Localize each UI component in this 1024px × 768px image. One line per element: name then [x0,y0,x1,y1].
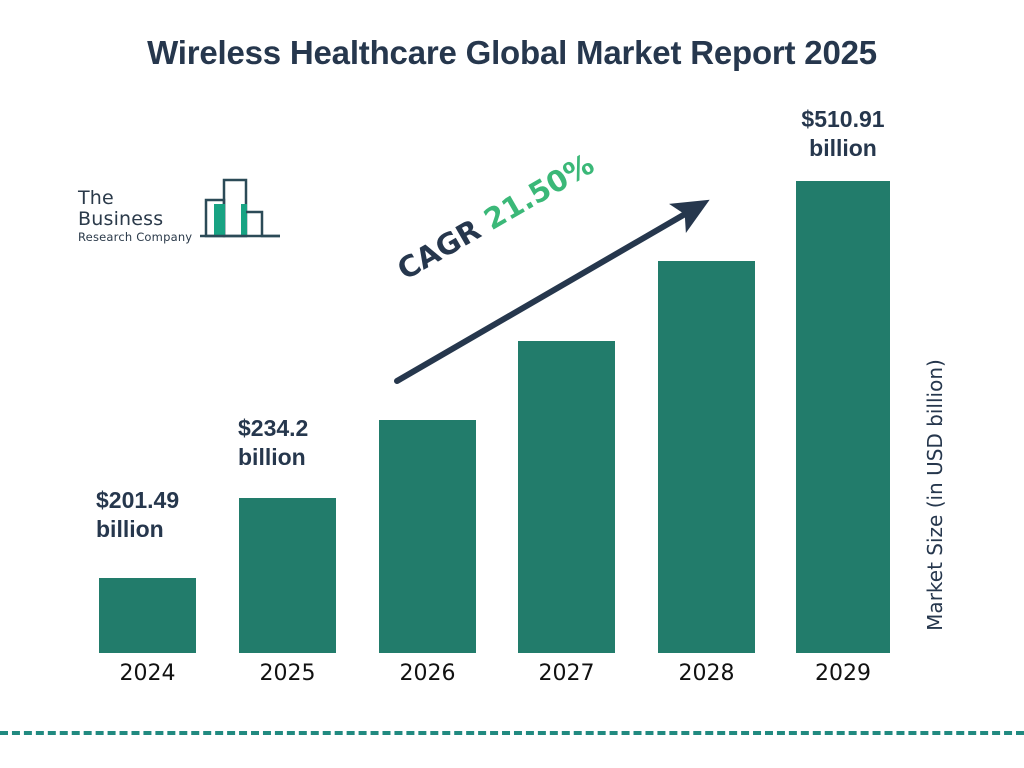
company-logo-line1: The Business [78,188,203,230]
bar-value-label-2025-line1: $234.2 [238,414,358,443]
bar-2027[interactable] [518,341,615,653]
bar-value-label-2024-line1: $201.49 [96,486,226,515]
bar-2028[interactable] [658,261,755,653]
bar-2029[interactable] [796,181,890,653]
bar-value-label-2024-line2: billion [96,515,226,544]
bar-value-label-2025: $234.2 billion [238,414,358,473]
y-axis-title: Market Size (in USD billion) [923,359,947,631]
bar-value-label-2029-line1: $510.91 [768,105,918,134]
bar-2025[interactable] [239,498,336,653]
y-axis-title-wrap: Market Size (in USD billion) [920,330,950,660]
company-logo-line2: Research Company [78,230,203,244]
bar-value-label-2029-line2: billion [768,134,918,163]
bar-value-label-2025-line2: billion [238,443,358,472]
bar-2026[interactable] [379,420,476,653]
x-axis-label-2026: 2026 [379,661,476,686]
bar-value-label-2024: $201.49 billion [96,486,226,545]
x-axis-label-2027: 2027 [518,661,615,686]
chart-canvas: Wireless Healthcare Global Market Report… [0,0,1024,768]
x-axis-label-2025: 2025 [239,661,336,686]
bar-2024[interactable] [99,578,196,653]
bottom-dashed-divider [0,731,1024,735]
x-axis-label-2024: 2024 [99,661,196,686]
company-logo: The Business Research Company [78,176,283,254]
page-title: Wireless Healthcare Global Market Report… [100,32,924,73]
bar-value-label-2029: $510.91 billion [768,105,918,164]
x-axis-label-2028: 2028 [658,661,755,686]
x-axis-label-2029: 2029 [796,661,890,686]
company-logo-text: The Business Research Company [78,188,203,244]
logo-bar-chart-icon [196,176,284,244]
